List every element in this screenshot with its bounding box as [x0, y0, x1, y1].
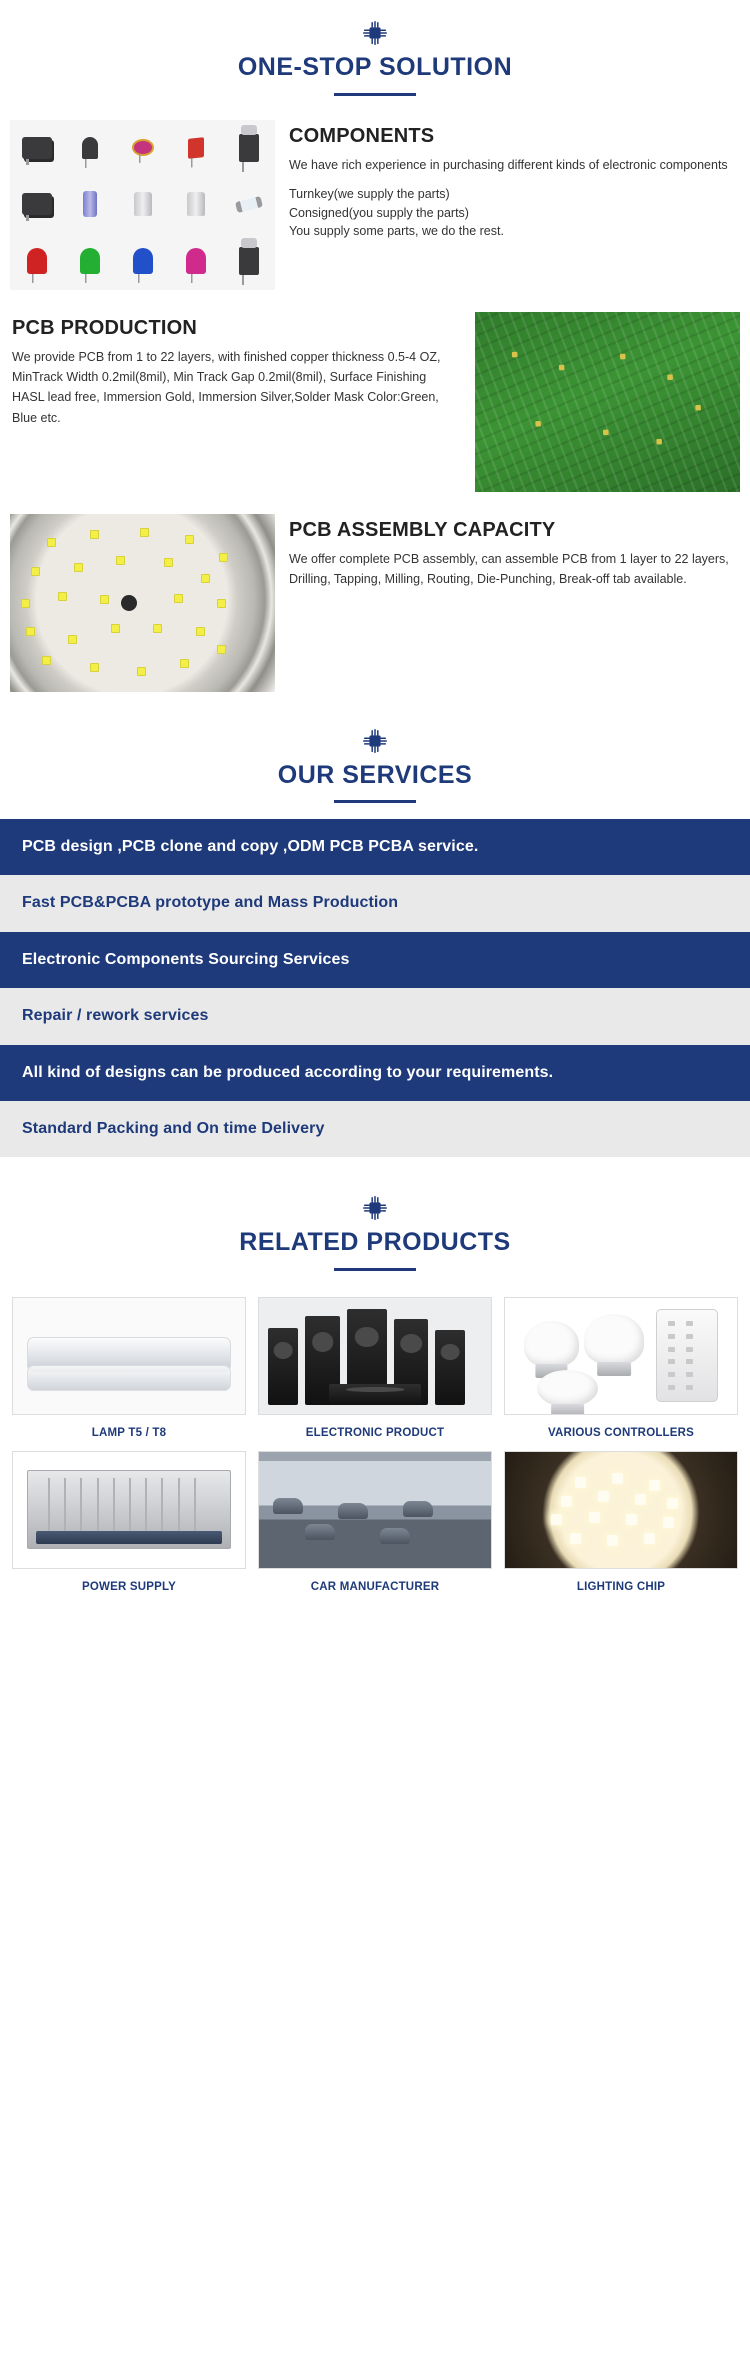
pcb-assembly-heading: PCB ASSEMBLY CAPACITY — [289, 518, 738, 542]
components-text: COMPONENTS We have rich experience in pu… — [275, 120, 740, 241]
feature-pcb-assembly: PCB ASSEMBLY CAPACITY We offer complete … — [10, 514, 740, 692]
one-stop-solution-header: ONE-STOP SOLUTION — [0, 0, 750, 96]
product-image — [12, 1451, 246, 1569]
page-title: ONE-STOP SOLUTION — [0, 54, 750, 82]
product-label: ELECTRONIC PRODUCT — [258, 1427, 492, 1439]
service-item[interactable]: All kind of designs can be produced acco… — [0, 1045, 750, 1101]
products-grid: LAMP T5 / T8 ELECTRONIC PRODUCT — [0, 1297, 750, 1609]
related-products-header: RELATED PRODUCTS — [0, 1157, 750, 1271]
related-products-title: RELATED PRODUCTS — [0, 1229, 750, 1257]
service-item[interactable]: Fast PCB&PCBA prototype and Mass Product… — [0, 875, 750, 931]
product-label: LAMP T5 / T8 — [12, 1427, 246, 1439]
feature-pcb-production: PCB PRODUCTION We provide PCB from 1 to … — [10, 312, 740, 492]
pcb-assembly-paragraph-1: We offer complete PCB assembly, can asse… — [289, 549, 738, 590]
service-item[interactable]: Electronic Components Sourcing Services — [0, 932, 750, 988]
product-image — [12, 1297, 246, 1415]
our-services-title: OUR SERVICES — [0, 762, 750, 790]
pcb-assembly-image — [10, 514, 275, 692]
product-image — [258, 1451, 492, 1569]
service-item[interactable]: PCB design ,PCB clone and copy ,ODM PCB … — [0, 819, 750, 875]
components-heading: COMPONENTS — [289, 124, 738, 148]
title-underline — [334, 800, 416, 803]
product-label: LIGHTING CHIP — [504, 1581, 738, 1593]
chip-icon — [360, 18, 390, 48]
pcb-production-image — [475, 312, 740, 492]
product-image — [258, 1297, 492, 1415]
pcb-production-heading: PCB PRODUCTION — [12, 316, 461, 340]
product-label: CAR MANUFACTURER — [258, 1581, 492, 1593]
components-paragraph-1: We have rich experience in purchasing di… — [289, 155, 738, 175]
product-card[interactable]: CAR MANUFACTURER — [258, 1451, 492, 1593]
feature-components: COMPONENTS We have rich experience in pu… — [10, 120, 740, 290]
service-item[interactable]: Standard Packing and On time Delivery — [0, 1101, 750, 1157]
service-item[interactable]: Repair / rework services — [0, 988, 750, 1044]
title-underline — [334, 93, 416, 96]
product-card[interactable]: POWER SUPPLY — [12, 1451, 246, 1593]
remote-control-illustration — [656, 1309, 719, 1402]
chip-icon — [360, 1193, 390, 1223]
components-paragraph-2: Turnkey(we supply the parts) Consigned(y… — [289, 185, 738, 241]
product-card[interactable]: ELECTRONIC PRODUCT — [258, 1297, 492, 1439]
pcb-production-text: PCB PRODUCTION We provide PCB from 1 to … — [10, 312, 475, 428]
services-list: PCB design ,PCB clone and copy ,ODM PCB … — [0, 819, 750, 1157]
product-image — [504, 1451, 738, 1569]
pcb-assembly-text: PCB ASSEMBLY CAPACITY We offer complete … — [275, 514, 740, 590]
product-image — [504, 1297, 738, 1415]
product-card[interactable]: VARIOUS CONTROLLERS — [504, 1297, 738, 1439]
product-card[interactable]: LIGHTING CHIP — [504, 1451, 738, 1593]
product-card[interactable]: LAMP T5 / T8 — [12, 1297, 246, 1439]
pcb-production-paragraph-1: We provide PCB from 1 to 22 layers, with… — [12, 347, 461, 428]
components-image — [10, 120, 275, 290]
title-underline — [334, 1268, 416, 1271]
our-services-header: OUR SERVICES — [0, 692, 750, 804]
product-label: POWER SUPPLY — [12, 1581, 246, 1593]
chip-icon — [360, 726, 390, 756]
product-label: VARIOUS CONTROLLERS — [504, 1427, 738, 1439]
